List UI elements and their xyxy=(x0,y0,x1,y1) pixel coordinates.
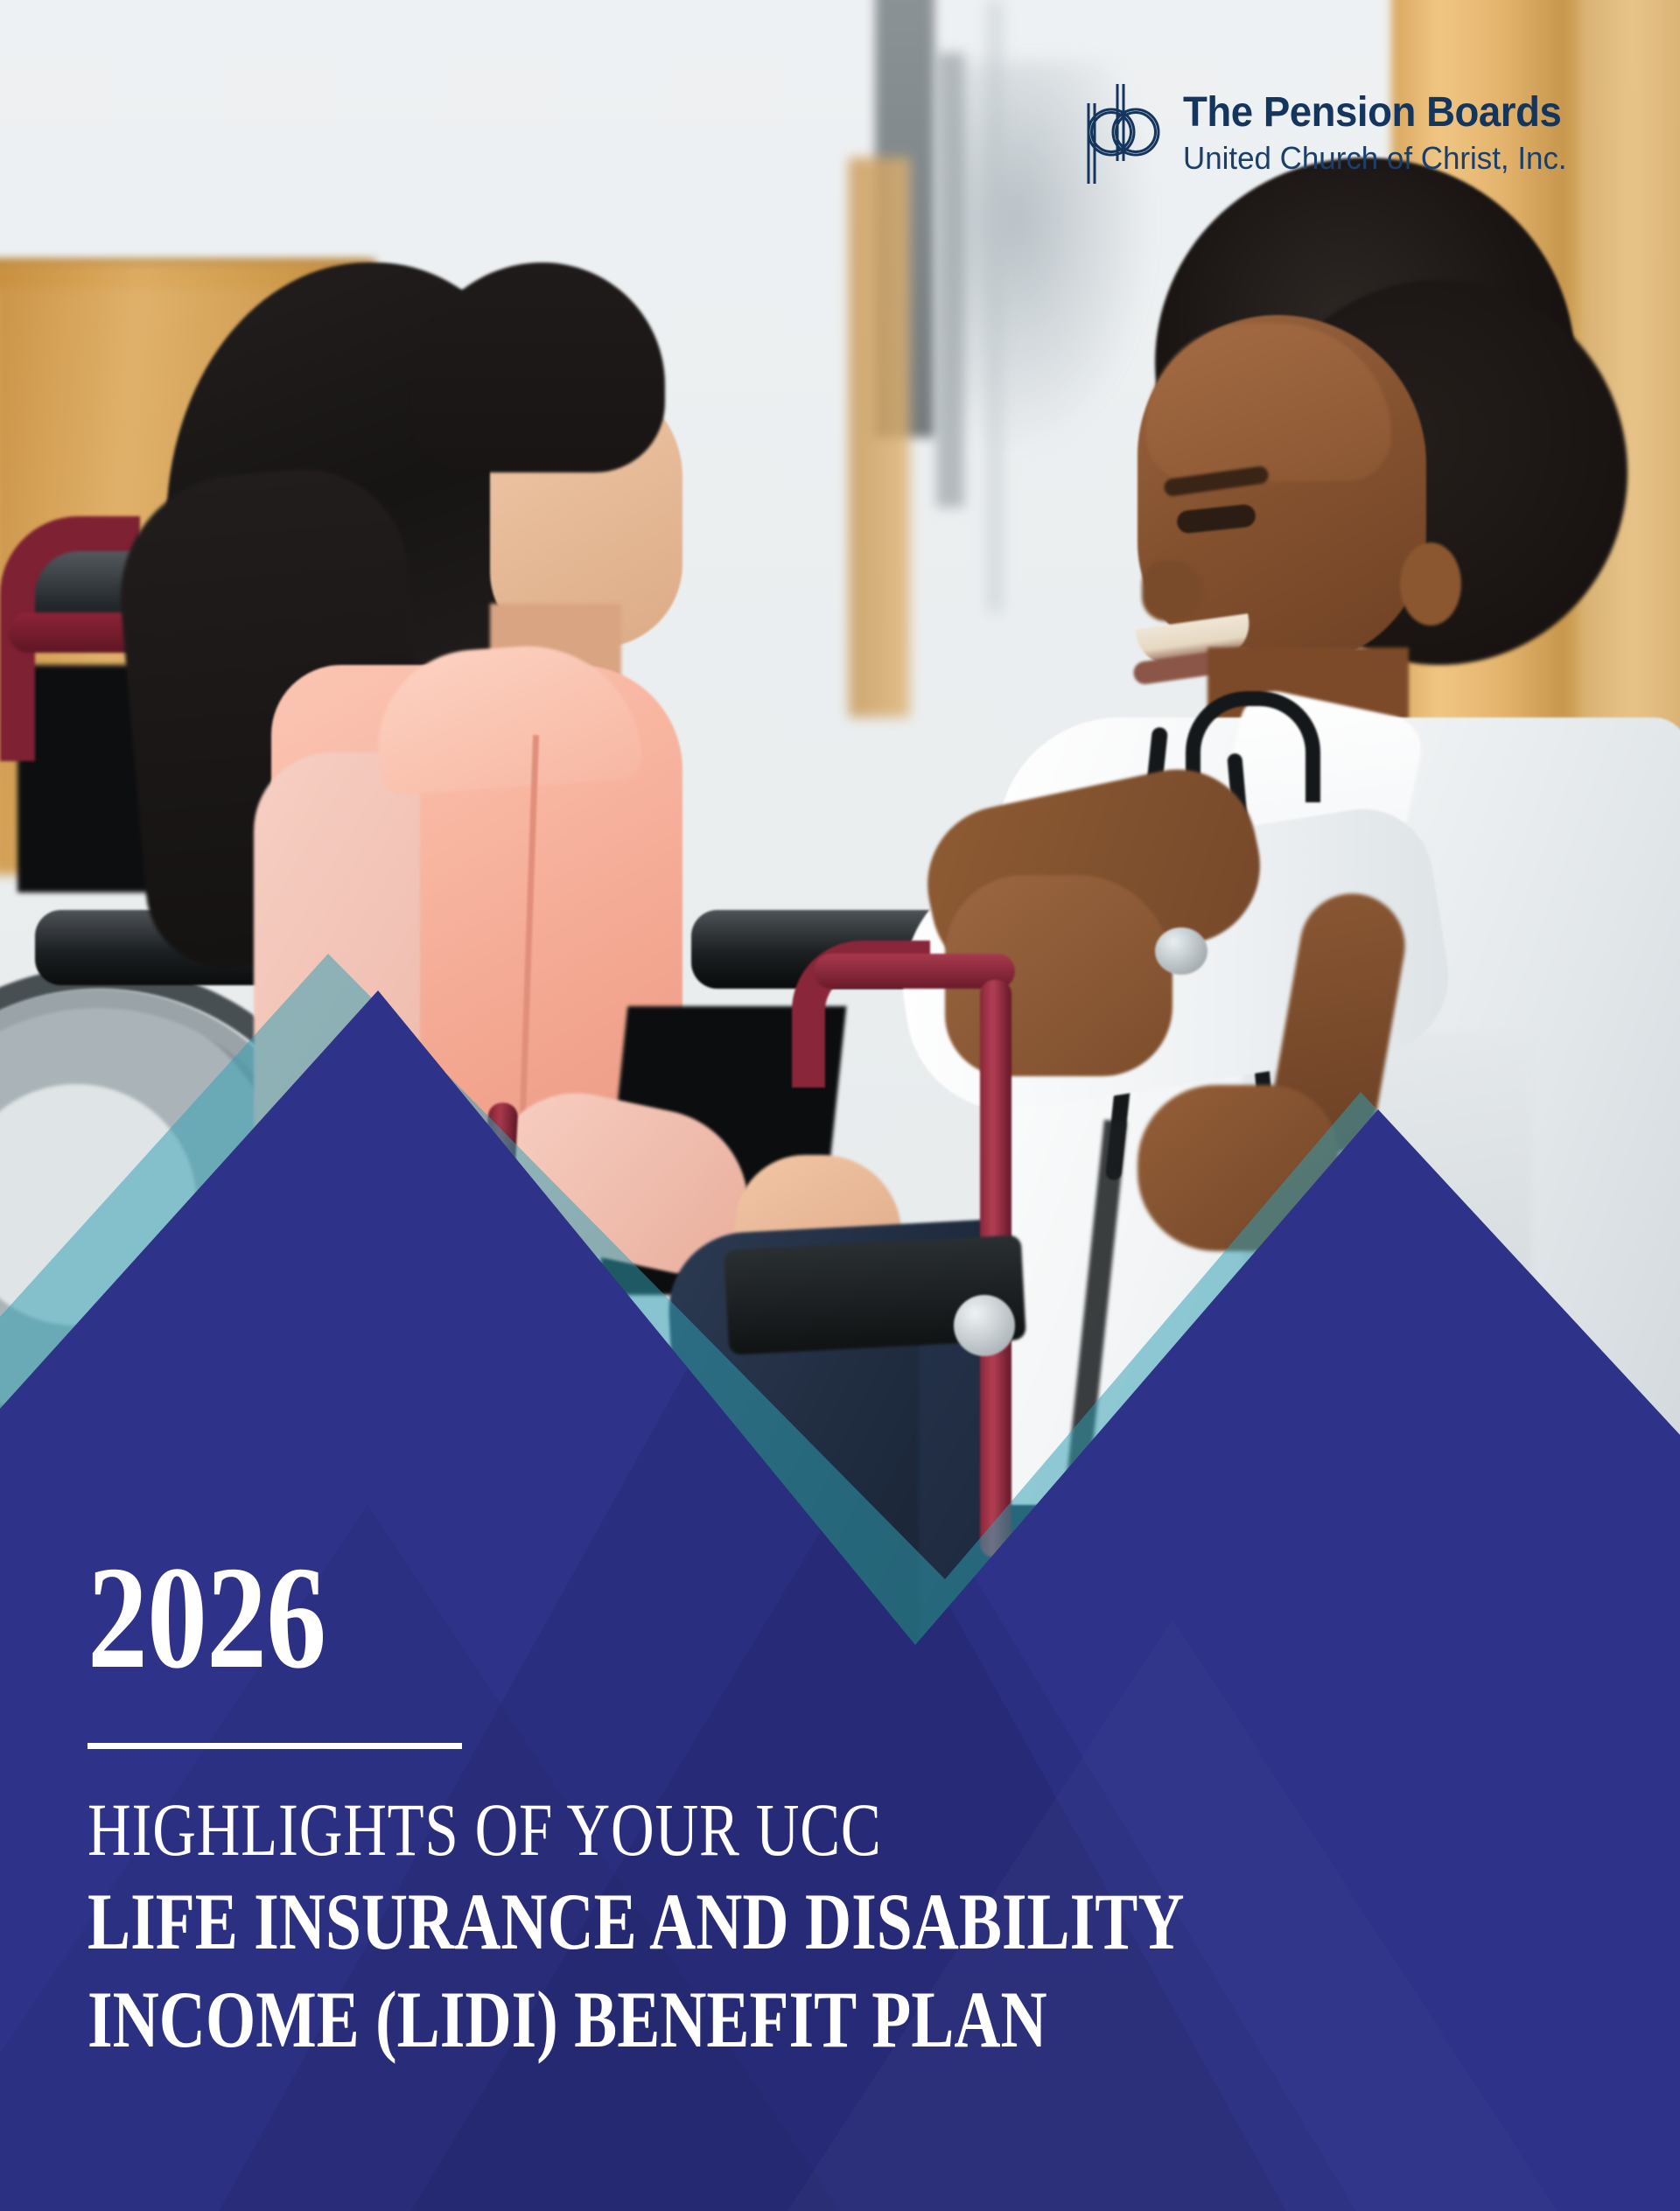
title-divider-rule xyxy=(87,1743,462,1749)
worker-nose xyxy=(1142,560,1203,621)
cover-title-line-1: LIFE INSURANCE AND DISABILITY xyxy=(87,1877,1277,1967)
wheelchair-hub xyxy=(954,1295,1015,1356)
door-panel-mid xyxy=(849,157,910,717)
wheelchair-knob xyxy=(1155,927,1207,975)
worker-ear xyxy=(1400,542,1461,626)
pension-boards-logo[interactable]: The Pension Boards United Church of Chri… xyxy=(1083,77,1581,189)
cover-year: 2026 xyxy=(87,1549,1307,1689)
cover-title-line-2: INCOME (LIDI) BENEFIT PLAN xyxy=(87,1975,1277,2065)
pb-monogram-icon xyxy=(1083,77,1164,189)
wall-edge xyxy=(989,0,1001,612)
logo-affiliation: United Church of Christ, Inc. xyxy=(1183,143,1569,174)
girl-sleeve xyxy=(254,752,420,1207)
cover-eyebrow: HIGHLIGHTS OF YOUR UCC xyxy=(87,1789,1277,1871)
logo-org-name: The Pension Boards xyxy=(1183,92,1561,134)
stethoscope-clip xyxy=(1269,1417,1325,1538)
logo-wordmark: The Pension Boards United Church of Chri… xyxy=(1183,92,1581,174)
worker-hand-lower xyxy=(1137,1085,1339,1251)
cover-title-block: 2026 HIGHLIGHTS OF YOUR UCC LIFE INSURAN… xyxy=(87,1549,1575,2065)
cover-page: The Pension Boards United Church of Chri… xyxy=(0,0,1680,2211)
